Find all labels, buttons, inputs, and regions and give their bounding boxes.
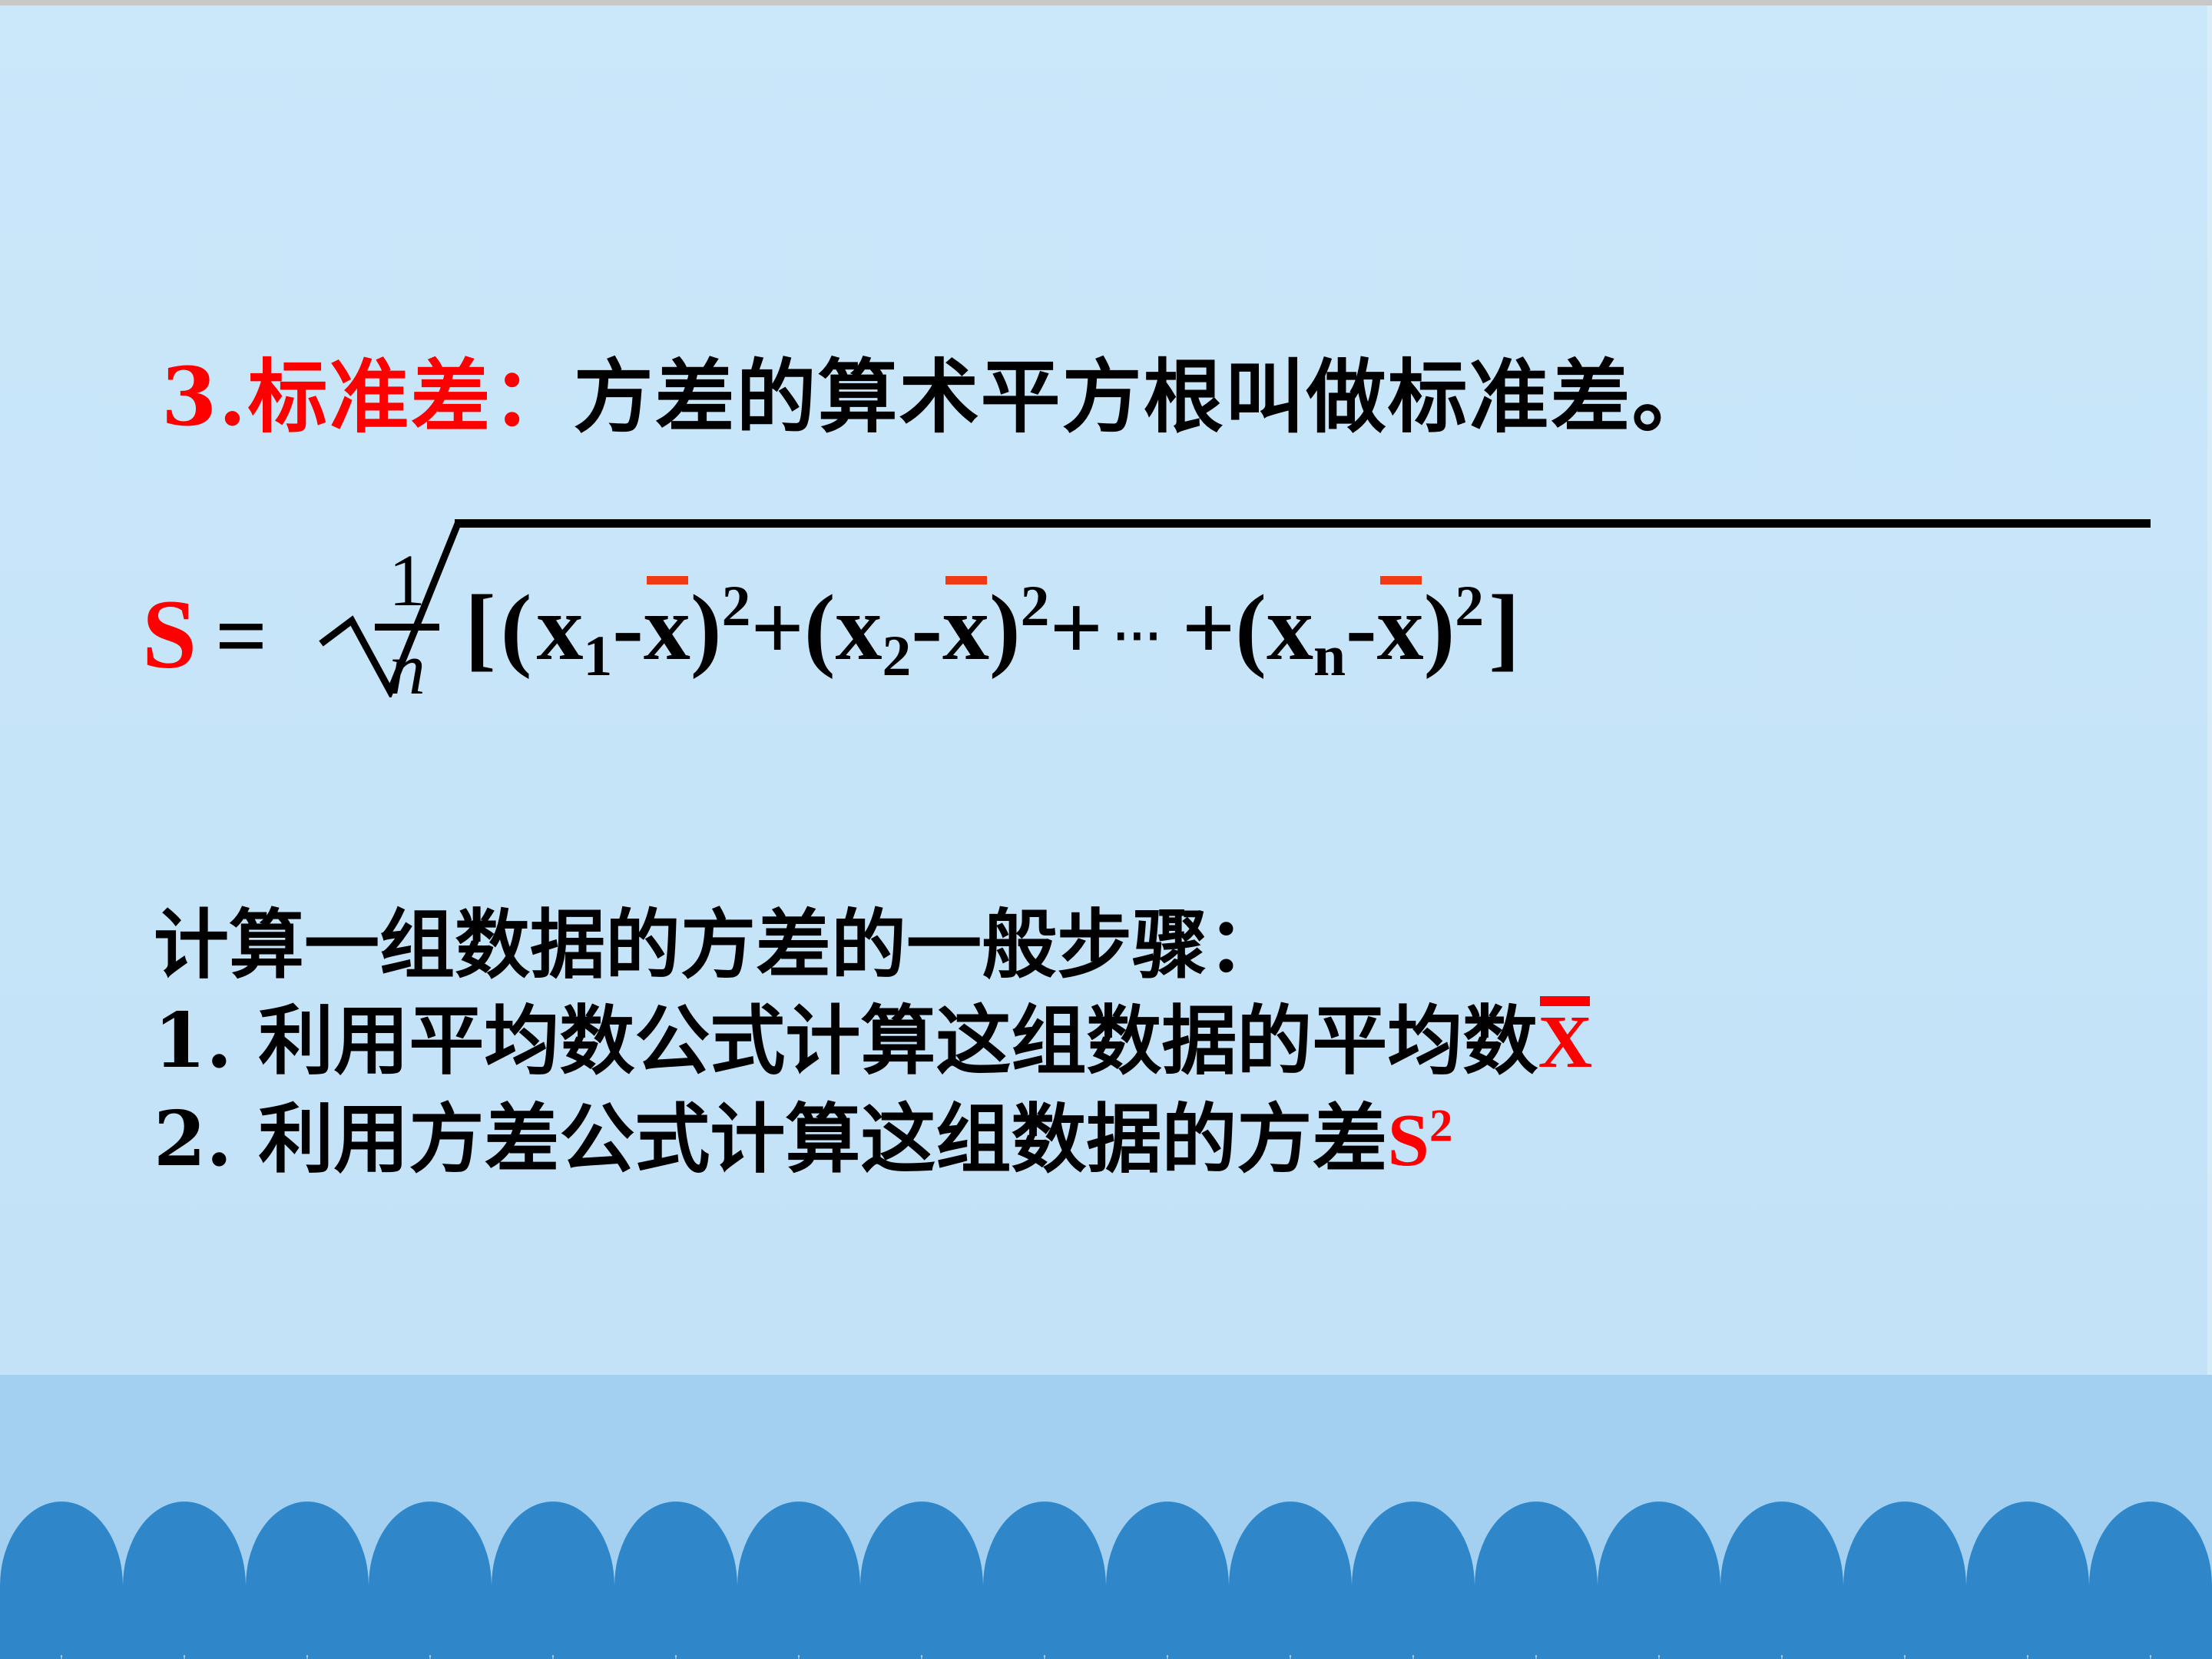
formula-term2-open-paren: ( bbox=[804, 576, 836, 680]
mean-x-base: X bbox=[1538, 1001, 1592, 1084]
formula-body: [(x1-x)2+(x2-x)2+⋯+(xn-x)2] bbox=[465, 578, 1525, 686]
formula-termn-mean-x: x bbox=[1377, 581, 1424, 675]
formula-termn-mean-base: x bbox=[1377, 576, 1424, 680]
formula-termn-base: x bbox=[1267, 576, 1313, 680]
formula-lhs-s: S bbox=[142, 585, 197, 684]
variance-s-exponent: 2 bbox=[1429, 1100, 1452, 1151]
formula-plus-3: + bbox=[1182, 576, 1236, 680]
formula-ellipsis: ⋯ bbox=[1103, 608, 1182, 662]
dome-shape bbox=[922, 1584, 1045, 1659]
page-title: 3.标准差：方差的算术平方根叫做标准差。 bbox=[161, 332, 1714, 448]
formula-term1-minus: - bbox=[612, 576, 644, 680]
dome-shape bbox=[0, 1584, 61, 1659]
dome-shape bbox=[799, 1584, 922, 1659]
dome-shape bbox=[2151, 1584, 2212, 1659]
dome-shape bbox=[307, 1584, 430, 1659]
dome-shape bbox=[2028, 1584, 2151, 1659]
dome-shape bbox=[1536, 1584, 1659, 1659]
dome-shape bbox=[1290, 1584, 1413, 1659]
formula-open-bracket: [ bbox=[465, 576, 496, 680]
dome-shape bbox=[430, 1584, 553, 1659]
title-rest-text: 方差的算术平方根叫做标准差。 bbox=[574, 349, 1714, 444]
formula-term2-mean-base: x bbox=[942, 576, 989, 680]
step-item-2-symbol: S2 bbox=[1387, 1099, 1452, 1182]
formula-term1-base: x bbox=[536, 576, 583, 680]
formula-term1-subscript: 1 bbox=[583, 624, 612, 688]
overbar-icon bbox=[945, 576, 987, 584]
dome-shape bbox=[1782, 1584, 1905, 1659]
fraction-one-over-n: 1 n bbox=[365, 544, 449, 709]
formula-term2-base: x bbox=[836, 576, 882, 680]
dome-shape bbox=[553, 1584, 676, 1659]
formula-termn-open-paren: ( bbox=[1235, 576, 1267, 680]
step-item-2: 2. 利用方差公式计算这组数据的方差S2 bbox=[154, 1091, 1592, 1189]
formula-term2-exponent: 2 bbox=[1021, 575, 1050, 638]
formula-term1-close-paren: ) bbox=[690, 576, 722, 680]
formula-termn-minus: - bbox=[1346, 576, 1377, 680]
decorative-bottom-band bbox=[0, 1375, 2212, 1659]
right-edge-highlight bbox=[2207, 5, 2212, 1375]
window-chrome-strip bbox=[0, 0, 2212, 5]
formula-termn-close-paren: ) bbox=[1424, 576, 1455, 680]
dome-shape bbox=[1045, 1584, 1167, 1659]
formula-term2-close-paren: ) bbox=[989, 576, 1021, 680]
formula-plus-2: + bbox=[1049, 576, 1103, 680]
step-item-2-text: 2. 利用方差公式计算这组数据的方差 bbox=[154, 1095, 1387, 1184]
formula-plus-1: + bbox=[750, 576, 804, 680]
formula-termn-exponent: 2 bbox=[1455, 575, 1484, 638]
dome-shape bbox=[184, 1584, 307, 1659]
steps-block: 计算一组数据的方差的一般步骤： 1. 利用平均数公式计算这组数据的平均数X 2.… bbox=[154, 897, 1592, 1189]
formula-equals-sign: = bbox=[215, 590, 267, 682]
step-item-1: 1. 利用平均数公式计算这组数据的平均数X bbox=[154, 993, 1592, 1091]
formula-term1-open-paren: ( bbox=[496, 576, 537, 680]
dome-shape bbox=[1167, 1584, 1290, 1659]
dome-shape bbox=[1905, 1584, 2028, 1659]
step-item-1-symbol: X bbox=[1538, 1001, 1592, 1084]
formula-term2-mean-x: x bbox=[942, 581, 989, 675]
step-item-1-text: 1. 利用平均数公式计算这组数据的平均数 bbox=[154, 997, 1538, 1085]
formula-term2-subscript: 2 bbox=[882, 624, 912, 688]
overbar-icon bbox=[1540, 996, 1590, 1006]
overbar-icon bbox=[1380, 576, 1422, 584]
slide-canvas: 3.标准差：方差的算术平方根叫做标准差。 S = 1 n [(x1-x)2+(x… bbox=[0, 0, 2212, 1659]
formula-termn-subscript: n bbox=[1313, 624, 1346, 688]
dome-shape bbox=[61, 1584, 184, 1659]
formula-close-bracket: ] bbox=[1484, 576, 1525, 680]
formula-term1-exponent: 2 bbox=[722, 575, 751, 638]
variance-s-base: S bbox=[1387, 1099, 1429, 1182]
dome-shape bbox=[1659, 1584, 1782, 1659]
fraction-denominator: n bbox=[365, 632, 449, 709]
mean-x-symbol: X bbox=[1538, 995, 1592, 1091]
steps-heading: 计算一组数据的方差的一般步骤： bbox=[154, 897, 1592, 993]
dome-row-bottom bbox=[0, 1584, 2212, 1659]
formula-term1-mean-x: x bbox=[644, 581, 690, 675]
formula-term1-mean-base: x bbox=[644, 576, 690, 680]
overbar-icon bbox=[647, 576, 688, 584]
fraction-numerator: 1 bbox=[365, 544, 449, 621]
dome-shape bbox=[1413, 1584, 1536, 1659]
dome-shape bbox=[676, 1584, 799, 1659]
formula-term2-minus: - bbox=[911, 576, 942, 680]
title-accent-text: 3.标准差： bbox=[161, 349, 574, 444]
